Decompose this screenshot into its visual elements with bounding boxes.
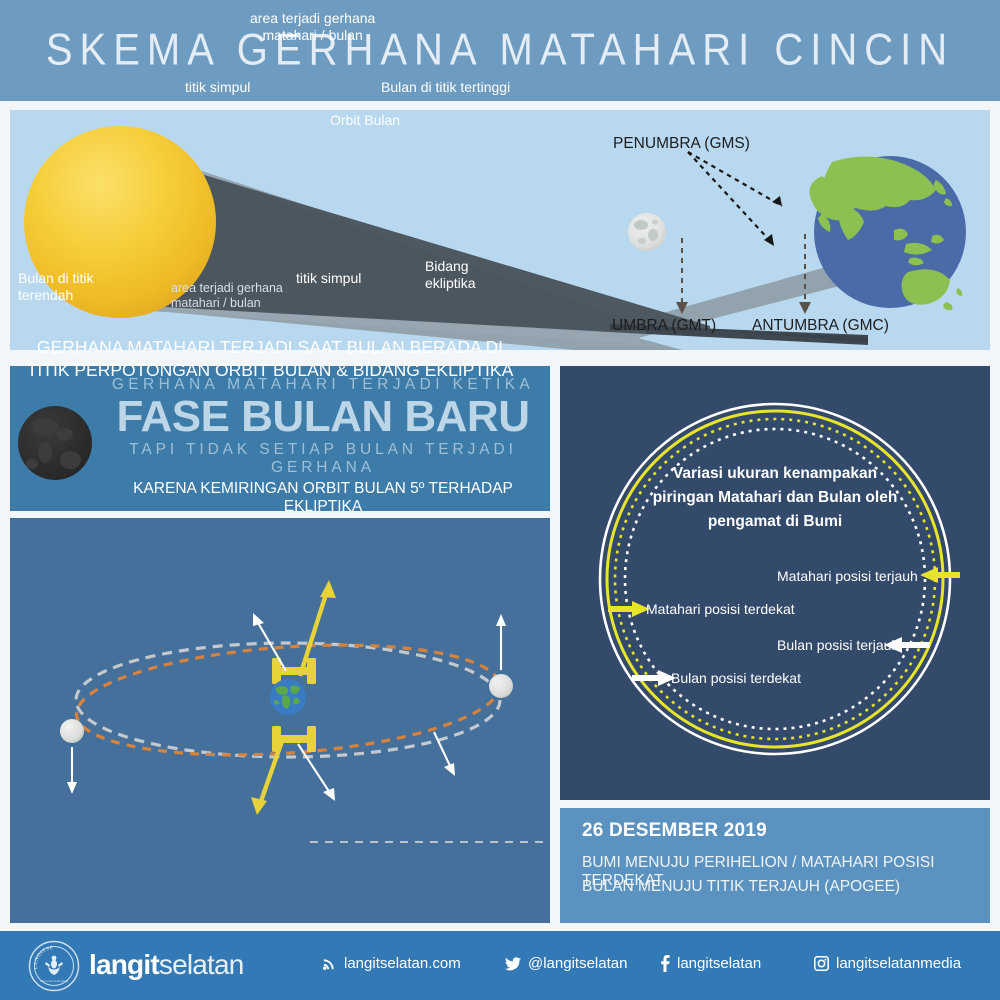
apparent-size-panel	[560, 366, 990, 800]
node-callout-arrowhead-bottom	[323, 788, 335, 801]
label-moon-lowest: Bulan di titik terendah	[18, 270, 93, 303]
footer-link-facebook[interactable]: langitselatan	[660, 955, 761, 972]
svg-text:Astronomi Indonesia: Astronomi Indonesia	[40, 979, 68, 983]
moon-lowest-arrowhead	[67, 782, 77, 794]
page-title: SKEMA GERHANA MATAHARI CINCIN	[46, 25, 954, 75]
footer-link-facebook-label: langitselatan	[677, 955, 761, 972]
label-eclipse-area-top: area terjadi gerhana matahari / bulan	[250, 10, 375, 43]
penumbra-arrows	[688, 152, 782, 243]
label-umbra: UMBRA (GMT)	[612, 317, 716, 335]
label-eclipse-area-bottom-l1: area terjadi gerhana	[171, 281, 283, 296]
label-ecliptic-plane-l2: ekliptika	[425, 275, 476, 292]
footer-link-website[interactable]: langitselatan.com	[322, 955, 461, 972]
arrow-sun-nearest	[608, 601, 650, 617]
label-antumbra: ANTUMBRA (GMC)	[752, 317, 889, 335]
apparent-size-title-l2: piringan Matahari dan Bulan oleh	[595, 486, 955, 510]
label-moon-nearest: Bulan posisi terdekat	[671, 670, 801, 686]
label-node-top: titik simpul	[185, 79, 250, 96]
label-ecliptic-plane-l1: Bidang	[425, 258, 476, 275]
moon-orbit-svg	[10, 518, 550, 923]
langitselatan-logo[interactable]: LANGITSELATAN Astronomi Indonesia	[28, 940, 80, 992]
label-moon-orbit: Orbit Bulan	[330, 112, 400, 129]
new-moon-line-2: FASE BULAN BARU	[100, 395, 546, 438]
label-sun-farthest: Matahari posisi terjauh	[777, 568, 918, 584]
label-sun-nearest: Matahari posisi terdekat	[646, 601, 795, 617]
label-node-bottom: titik simpul	[296, 270, 361, 287]
label-eclipse-area-bottom-l2: matahari / bulan	[171, 296, 283, 311]
penumbra-arrowhead-2	[764, 234, 774, 246]
instagram-icon	[814, 956, 829, 971]
footer-link-twitter[interactable]: @langitselatan	[505, 955, 627, 972]
eclipse-area-arrowhead-top	[320, 580, 336, 598]
new-moon-line-3: TAPI TIDAK SETIAP BULAN TERJADI GERHANA	[100, 441, 546, 477]
footer-link-twitter-label: @langitselatan	[528, 955, 627, 972]
eclipse-geometry-panel	[10, 110, 990, 350]
arrow-moon-nearest	[632, 670, 676, 686]
footer-link-instagram[interactable]: langitselatanmedia	[814, 955, 961, 972]
apparent-size-title-l3: pengamat di Bumi	[595, 510, 955, 534]
label-ecliptic-plane: Bidang ekliptika	[425, 258, 476, 291]
label-moon-farthest: Bulan posisi terjauh	[777, 637, 899, 653]
label-eclipse-area-top-l1: area terjadi gerhana	[250, 10, 375, 27]
new-moon-line-4: KARENA KEMIRINGAN ORBIT BULAN 5º TERHADA…	[100, 480, 546, 516]
new-moon-text-block: GERHANA MATAHARI TERJADI KETIKA FASE BUL…	[100, 376, 546, 516]
antumbra-arrowhead	[799, 302, 811, 314]
apparent-size-title-l1: Variasi ukuran kenampakan	[595, 462, 955, 486]
penumbra-arrowhead-1	[772, 196, 782, 206]
moon-lowest-marker	[60, 719, 84, 743]
facebook-icon	[660, 955, 670, 972]
footer-link-website-label: langitselatan.com	[344, 955, 461, 972]
apparent-size-title: Variasi ukuran kenampakan piringan Matah…	[595, 462, 955, 534]
label-moon-highest: Bulan di titik tertinggi	[381, 79, 510, 96]
label-moon-lowest-l2: terendah	[18, 287, 93, 304]
event-date: 26 DESEMBER 2019	[582, 820, 767, 842]
label-eclipse-area-bottom: area terjadi gerhana matahari / bulan	[171, 281, 283, 311]
eclipse-geometry-svg	[10, 110, 990, 350]
footer-link-instagram-label: langitselatanmedia	[836, 955, 961, 972]
logo-seal-svg: LANGITSELATAN Astronomi Indonesia	[28, 940, 80, 992]
langitselatan-wordmark[interactable]: langitselatan	[89, 949, 244, 981]
apparent-size-svg	[560, 366, 990, 800]
eclipse-area-arrow-bottom	[260, 741, 282, 804]
new-moon-icon	[18, 406, 92, 480]
node-callout-arrowhead-top	[253, 613, 264, 626]
earth-globe-mid-svg	[270, 679, 306, 715]
infographic-page: SKEMA GERHANA MATAHARI CINCIN	[0, 0, 1000, 1000]
eclipse-area-arrowhead-bottom	[251, 797, 267, 815]
event-detail-2: BULAN MENUJU TITIK TERJAUH (APOGEE)	[582, 878, 900, 896]
moon-highest-marker	[489, 674, 513, 698]
orbit-caption: GERHANA MATAHARI TERJADI SAAT BULAN BERA…	[0, 336, 540, 383]
wordmark-light: selatan	[159, 949, 244, 980]
earth-globe-mid	[270, 679, 306, 715]
ecliptic-arrowhead	[444, 763, 455, 776]
moon-sphere	[628, 213, 666, 251]
label-moon-lowest-l1: Bulan di titik	[18, 270, 93, 287]
moon-orbit-panel	[10, 518, 550, 923]
orbit-caption-l1: GERHANA MATAHARI TERJADI SAAT BULAN BERA…	[0, 336, 540, 359]
label-penumbra: PENUMBRA (GMS)	[613, 135, 750, 153]
wordmark-bold: langit	[89, 949, 159, 980]
rss-icon	[322, 956, 337, 971]
twitter-icon	[505, 957, 521, 971]
label-eclipse-area-top-l2: matahari / bulan	[250, 27, 375, 44]
orbit-caption-l2: TITIK PERPOTONGAN ORBIT BULAN & BIDANG E…	[0, 359, 540, 382]
moon-highest-arrowhead	[496, 614, 506, 626]
